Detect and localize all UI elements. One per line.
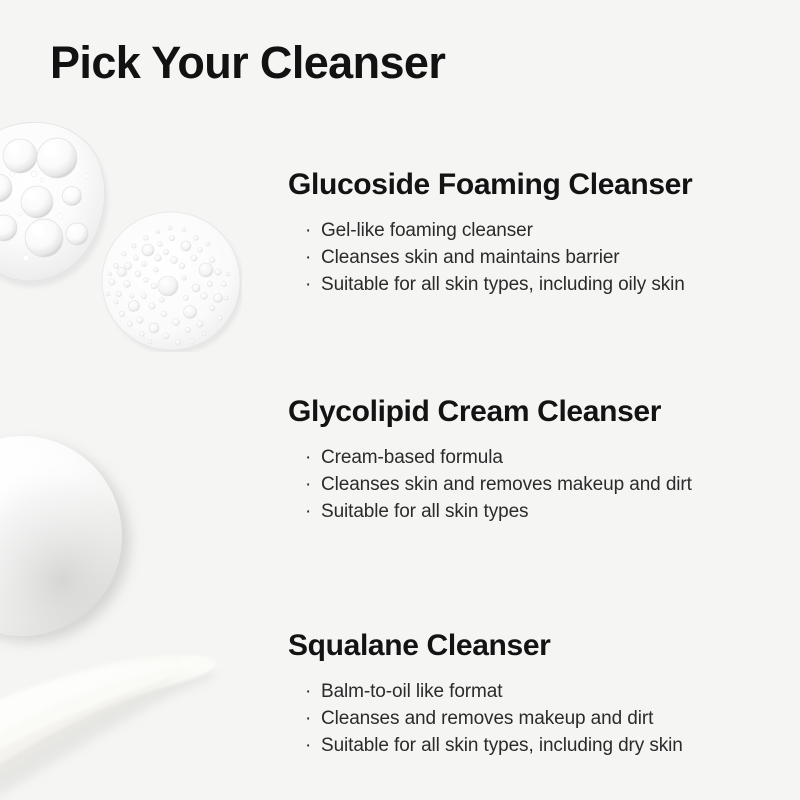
product-section-glucoside-foaming-cleanser: Glucoside Foaming Cleanser · Gel-like fo… bbox=[288, 168, 788, 298]
bullet-dot-icon: · bbox=[305, 732, 311, 759]
foam-disc-texture-icon bbox=[100, 210, 242, 352]
cleanser-infographic: Pick Your Cleanser bbox=[0, 0, 800, 800]
product-bullet-list: · Cream-based formula · Cleanses skin an… bbox=[288, 444, 788, 525]
product-bullet-text: Cleanses skin and removes makeup and dir… bbox=[321, 474, 692, 495]
product-bullet-text: Suitable for all skin types, including d… bbox=[321, 735, 683, 756]
bullet-dot-icon: · bbox=[305, 444, 311, 471]
page-title: Pick Your Cleanser bbox=[50, 38, 445, 88]
product-bullet-item: · Gel-like foaming cleanser bbox=[305, 217, 788, 244]
product-bullet-text: Suitable for all skin types bbox=[321, 501, 528, 522]
product-section-squalane-cleanser: Squalane Cleanser · Balm-to-oil like for… bbox=[288, 629, 788, 759]
product-heading: Glucoside Foaming Cleanser bbox=[288, 168, 788, 203]
product-bullet-item: · Cleanses and removes makeup and dirt bbox=[305, 705, 788, 732]
bullet-dot-icon: · bbox=[305, 471, 311, 498]
balm-smear-texture-icon bbox=[0, 600, 280, 800]
product-bullet-item: · Cream-based formula bbox=[305, 444, 788, 471]
bullet-dot-icon: · bbox=[305, 244, 311, 271]
product-section-glycolipid-cream-cleanser: Glycolipid Cream Cleanser · Cream-based … bbox=[288, 395, 788, 525]
product-bullet-text: Gel-like foaming cleanser bbox=[321, 220, 533, 241]
product-bullet-item: · Cleanses skin and maintains barrier bbox=[305, 244, 788, 271]
bullet-dot-icon: · bbox=[305, 271, 311, 298]
product-heading: Glycolipid Cream Cleanser bbox=[288, 395, 788, 430]
bullet-dot-icon: · bbox=[305, 498, 311, 525]
product-bullet-text: Cleanses and removes makeup and dirt bbox=[321, 708, 653, 729]
product-bullet-item: · Suitable for all skin types bbox=[305, 498, 788, 525]
bullet-dot-icon: · bbox=[305, 678, 311, 705]
cream-dome-texture-icon bbox=[0, 386, 172, 686]
bullet-dot-icon: · bbox=[305, 705, 311, 732]
product-bullet-item: · Suitable for all skin types, including… bbox=[305, 732, 788, 759]
product-bullet-item: · Cleanses skin and removes makeup and d… bbox=[305, 471, 788, 498]
product-bullet-list: · Balm-to-oil like format · Cleanses and… bbox=[288, 678, 788, 759]
product-bullet-text: Cleanses skin and maintains barrier bbox=[321, 247, 620, 268]
product-bullet-text: Suitable for all skin types, including o… bbox=[321, 274, 685, 295]
gel-blob-texture-icon bbox=[0, 112, 117, 290]
product-bullet-list: · Gel-like foaming cleanser · Cleanses s… bbox=[288, 217, 788, 298]
bullet-dot-icon: · bbox=[305, 217, 311, 244]
product-bullet-text: Balm-to-oil like format bbox=[321, 681, 502, 702]
product-bullet-item: · Suitable for all skin types, including… bbox=[305, 271, 788, 298]
product-heading: Squalane Cleanser bbox=[288, 629, 788, 664]
product-bullet-text: Cream-based formula bbox=[321, 447, 503, 468]
product-bullet-item: · Balm-to-oil like format bbox=[305, 678, 788, 705]
